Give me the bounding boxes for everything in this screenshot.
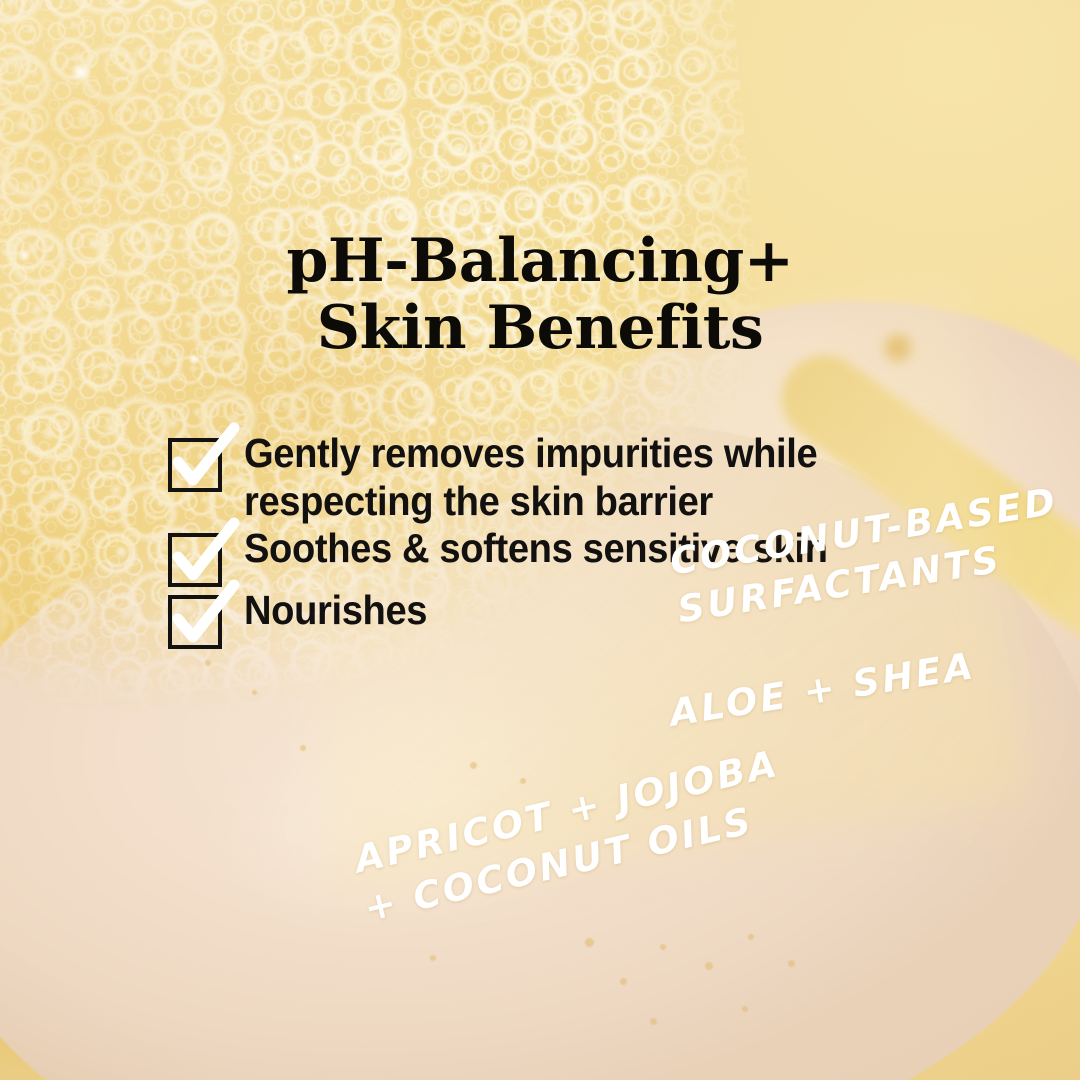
benefit-text: Nourishes <box>244 587 427 635</box>
annotation-aloe-shea: ALOE + SHEA <box>667 644 979 735</box>
headline-line-1: pH-Balancing+ <box>0 228 1080 295</box>
benefit-text: Gently removes impurities while respecti… <box>244 430 917 525</box>
product-benefits-poster: pH-Balancing+ Skin Benefits Gently remov… <box>0 0 1080 1080</box>
headline-line-2: Skin Benefits <box>0 295 1080 362</box>
checkbox-checked-icon <box>168 438 222 492</box>
page-title: pH-Balancing+ Skin Benefits <box>0 228 1080 362</box>
list-item: Gently removes impurities while respecti… <box>168 430 968 525</box>
poster-content: pH-Balancing+ Skin Benefits Gently remov… <box>0 0 1080 1080</box>
checkbox-checked-icon <box>168 595 222 649</box>
